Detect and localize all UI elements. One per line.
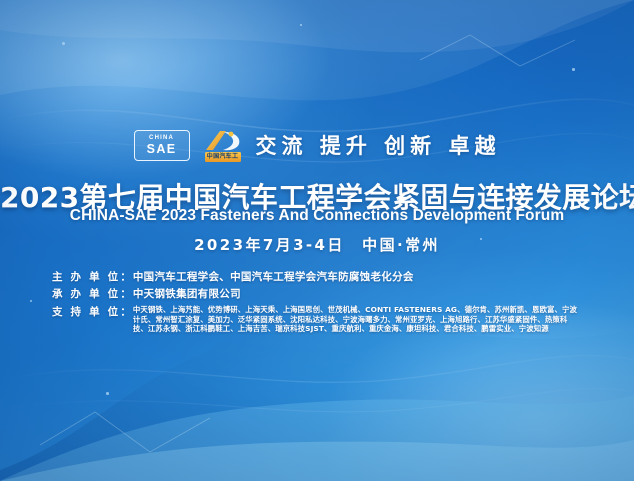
co-organizer-label: 承 办 单 位 — [52, 286, 120, 301]
china-sae-logo: CHINA SAE — [134, 130, 190, 161]
logo-slogan-row: CHINA SAE 中国汽车工程学会 交流 提升 创新 卓越 — [0, 128, 634, 162]
forum-emblem-logo: 中国汽车工程学会 — [200, 128, 246, 162]
supporting-organizations-value: 中天钢铁、上海艿能、优势博研、上海天乘、上海国思创、世茂机械、CONTI FAS… — [133, 303, 582, 334]
co-organizer-row: 承 办 单 位 ： 中天钢铁集团有限公司 — [52, 286, 582, 301]
sparkle-dot — [62, 42, 65, 45]
date-location-line: 2023年7月3-4日 中国·常州 — [0, 234, 634, 255]
sparkle-dot — [30, 300, 32, 302]
organizer-block: 主 办 单 位 ： 中国汽车工程学会、中国汽车工程学会汽车防腐蚀老化分会 承 办… — [52, 269, 582, 336]
slogan-text: 交流 提升 创新 卓越 — [256, 130, 501, 160]
supporting-organizations-row: 支 持 单 位 ： 中天钢铁、上海艿能、优势博研、上海天乘、上海国思创、世茂机械… — [52, 303, 582, 334]
host-organization-colon: ： — [120, 269, 133, 284]
supporting-organizations-colon: ： — [120, 303, 133, 319]
co-organizer-value: 中天钢铁集团有限公司 — [133, 286, 582, 301]
china-sae-logo-line1: CHINA — [149, 135, 174, 141]
sparkle-dot — [300, 24, 302, 26]
title-english: CHINA-SAE 2023 Fasteners And Connections… — [0, 207, 634, 225]
host-organization-label: 主 办 单 位 — [52, 269, 120, 284]
forum-logo-plate: 中国汽车工程学会 — [205, 152, 241, 162]
co-organizer-colon: ： — [120, 286, 133, 301]
sparkle-dot — [572, 68, 575, 71]
conference-poster: CHINA SAE 中国汽车工程学会 交流 提升 创新 卓越 2023第七届中国… — [0, 0, 634, 481]
supporting-organizations-label: 支 持 单 位 — [52, 303, 120, 319]
china-sae-logo-line2: SAE — [147, 143, 177, 156]
swoosh-icon — [204, 129, 242, 152]
sparkle-dot — [106, 392, 109, 395]
host-organization-row: 主 办 单 位 ： 中国汽车工程学会、中国汽车工程学会汽车防腐蚀老化分会 — [52, 269, 582, 284]
host-organization-value: 中国汽车工程学会、中国汽车工程学会汽车防腐蚀老化分会 — [133, 269, 582, 284]
